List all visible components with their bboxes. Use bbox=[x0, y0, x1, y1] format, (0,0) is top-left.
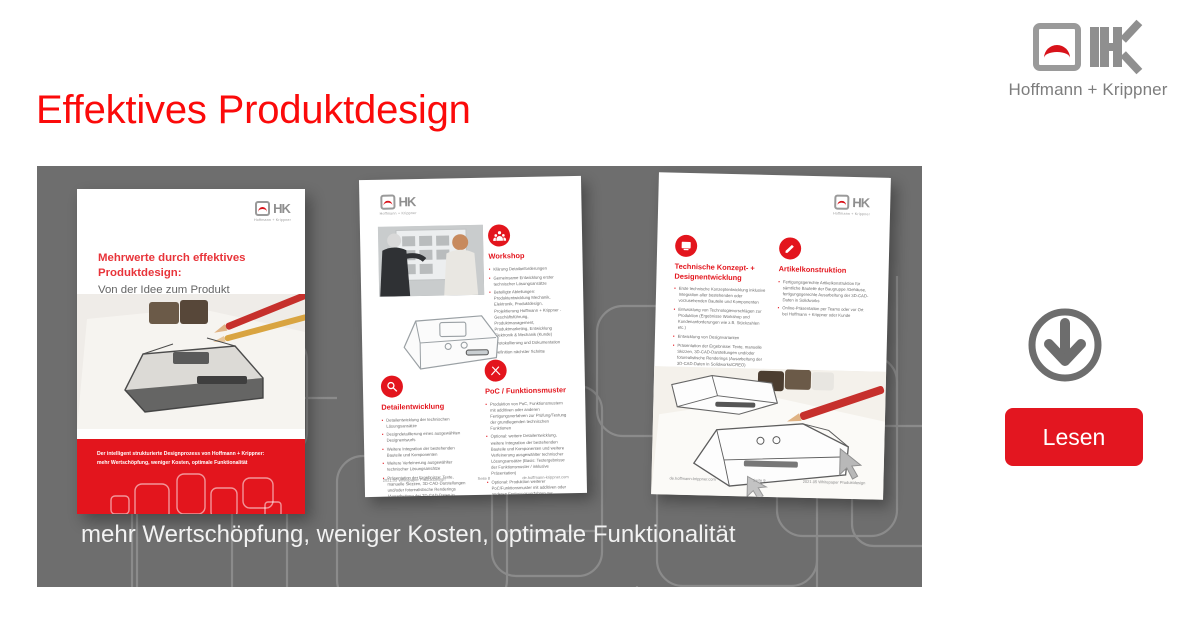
cover-band-line-1: Der intelligent strukturierte Designproz… bbox=[97, 450, 293, 459]
magnifier-icon bbox=[381, 375, 403, 397]
group-people-icon bbox=[488, 224, 510, 246]
bullet: Weitere Integration der bestehenden Baut… bbox=[387, 445, 471, 459]
footer-center: Seite 8 bbox=[478, 476, 491, 481]
bullet: Gemeinsame Entwicklung erster technische… bbox=[493, 274, 565, 288]
section-heading: PoC / Funktionsmuster bbox=[485, 385, 567, 396]
bullet: Detailentwicklung der technischen Lösung… bbox=[386, 416, 470, 430]
hk-logo-icon: HK Hoffmann + Krippner bbox=[254, 201, 291, 222]
hk-letters-label: HK bbox=[398, 195, 415, 208]
hk-logo-icon: HK Hoffmann + Krippner bbox=[379, 194, 416, 216]
bullet: Entwicklung von Technologievorschlägen z… bbox=[678, 307, 766, 334]
read-button[interactable]: Lesen bbox=[1005, 408, 1143, 466]
bullet: Designdetaillierung eines ausgewählten D… bbox=[386, 430, 470, 444]
section-heading: Detailentwicklung bbox=[381, 401, 469, 412]
page-title: Effektives Produktdesign bbox=[36, 88, 471, 133]
bullet: Optional: weitere Detailentwicklung, wei… bbox=[491, 433, 569, 477]
panel-caption: mehr Wertschöpfung, weniger Kosten, opti… bbox=[81, 521, 736, 549]
cover-band-line-2: mehr Wertschöpfung, weniger Kosten, opti… bbox=[97, 459, 293, 468]
tools-icon bbox=[484, 359, 506, 381]
footer-center: Seite 9 bbox=[753, 478, 766, 483]
section-heading: Technische Konzept- + Designentwicklung bbox=[674, 262, 766, 283]
cover-title-red: Mehrwerte durch effektives Produktdesign… bbox=[98, 251, 288, 281]
cover-photo-product-sketch bbox=[77, 294, 305, 429]
brochure-page-konstruktion[interactable]: HK Hoffmann + Krippner Technische Konzep… bbox=[651, 172, 891, 500]
section-bullets: ▪Detailentwicklung der technischen Lösun… bbox=[382, 416, 472, 497]
concept-design-icon bbox=[675, 235, 698, 258]
bullet: Entwicklung von Designvarianten bbox=[678, 333, 740, 341]
brochure-page-workshop[interactable]: HK Hoffmann + Krippner bbox=[359, 176, 587, 497]
hk-logo-name: Hoffmann + Krippner bbox=[380, 211, 417, 216]
logo-marks bbox=[1003, 22, 1173, 72]
slide-root: Hoffmann + Krippner Effektives Produktde… bbox=[0, 0, 1200, 627]
cover-title: Mehrwerte durch effektives Produktdesign… bbox=[98, 251, 288, 298]
hk-square-icon bbox=[1033, 23, 1081, 71]
section-artikelkonstruktion: Artikelkonstruktion ▪Fertigungsgerechte … bbox=[777, 237, 871, 322]
pencil-icon bbox=[779, 237, 802, 260]
hk-letters-icon bbox=[1090, 27, 1143, 67]
brochure-cover-page[interactable]: HK Hoffmann + Krippner Mehrwerte durch e… bbox=[77, 189, 305, 514]
workshop-photo bbox=[378, 225, 484, 297]
section-bullets: ▪Produktion von PoC, Funktionsmustern mi… bbox=[485, 400, 569, 497]
hk-logo-name: Hoffmann + Krippner bbox=[254, 218, 291, 222]
red-arc-icon bbox=[1044, 45, 1070, 58]
hk-letters-label: HK bbox=[273, 202, 290, 215]
download-circle-arrow-icon[interactable] bbox=[1026, 306, 1104, 384]
bullet: Klärung Detailanforderungen bbox=[493, 265, 547, 273]
bullet: Weitere Verfeinerung ausgewählter techni… bbox=[387, 459, 471, 473]
bullet: Online-Präsentation per Teams oder vor O… bbox=[782, 306, 870, 320]
hk-letters-label: HK bbox=[852, 196, 869, 209]
section-heading: Workshop bbox=[488, 250, 564, 261]
section-bullets: ▪Fertigungsgerechte Artikelkonstruktion … bbox=[777, 279, 870, 320]
bullet: Fertigungsgerechte Artikelkonstruktion f… bbox=[782, 279, 870, 306]
bullet: Präsentation der Ergebnisse: Texte, manu… bbox=[677, 342, 765, 369]
hk-logo-name: Hoffmann + Krippner bbox=[833, 211, 870, 216]
hk-logo-icon: HK Hoffmann + Krippner bbox=[833, 194, 871, 216]
cover-red-band: Der intelligent strukturierte Designproz… bbox=[77, 439, 305, 514]
bullet: Produktion von PoC, Funktionsmustern mit… bbox=[490, 400, 568, 432]
band-pattern-decoration bbox=[107, 470, 305, 514]
footer-right: de.hoffmann-krippner.com bbox=[522, 474, 568, 480]
brand-logo: Hoffmann + Krippner bbox=[1003, 22, 1173, 100]
section-heading: Artikelkonstruktion bbox=[779, 264, 871, 276]
bullet: Optional: Produktion weiterer PoC/Funkti… bbox=[491, 478, 569, 497]
brand-name: Hoffmann + Krippner bbox=[1003, 80, 1173, 100]
hero-panel: HK Hoffmann + Krippner Mehrwerte durch e… bbox=[37, 166, 922, 587]
bullet: Erste technische Konzeptentwicklung inkl… bbox=[678, 286, 766, 306]
section-technische-konzept: Technische Konzept- + Designentwicklung … bbox=[672, 235, 768, 386]
